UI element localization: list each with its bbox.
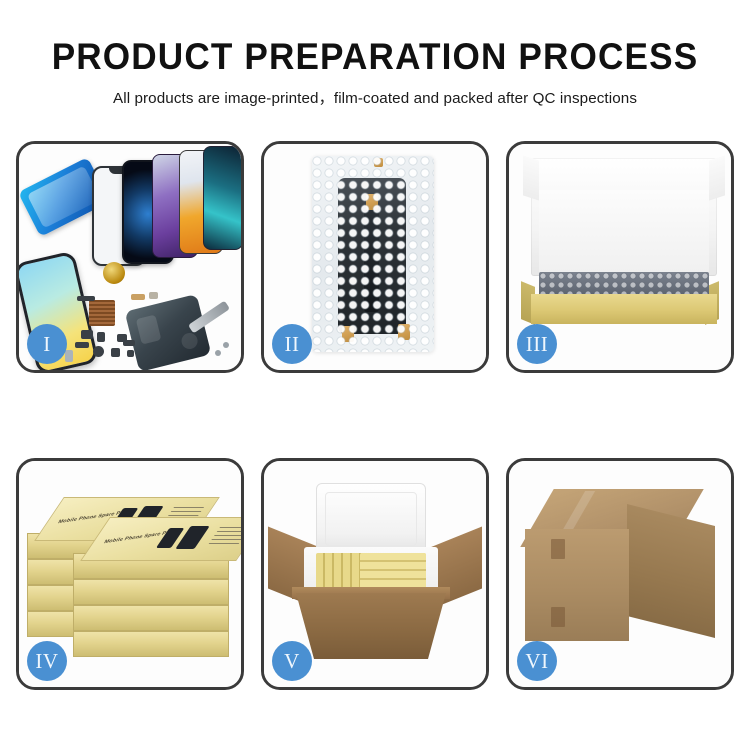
header: PRODUCT PREPARATION PROCESS All products… [0,38,750,108]
carton-tape-patch [551,539,565,559]
spare-part-piece [65,350,73,362]
spec-text-lines [207,527,244,547]
process-step-6: VI [506,458,734,690]
step-badge-1: I [27,324,67,364]
outer-carton-body [296,593,446,659]
carton-front-face [525,529,629,641]
spare-part-piece [223,342,229,348]
speaker-module-part [103,262,125,284]
process-step-2: II [261,141,489,373]
phone-back-housing [125,294,212,372]
page-title: PRODUCT PREPARATION PROCESS [19,38,732,77]
process-step-5: V [261,458,489,690]
connector-chip-part [89,300,115,326]
phone-teal-display [203,146,243,250]
step-badge-5: V [272,641,312,681]
spare-part-piece [77,296,95,301]
foam-cooler-lid [316,483,426,555]
bubble-wrap-bag [312,156,434,352]
retail-box-stack: Mobile Phone Spare Parts Mobile Phone Sp… [27,485,233,663]
process-step-3: III [506,141,734,373]
spare-part-piece [75,342,89,348]
step-badge-3: III [517,324,557,364]
spare-part-piece [81,330,93,339]
kraft-tray-front [531,294,717,324]
step-badge-4: IV [27,641,67,681]
step-badge-2: II [272,324,312,364]
carton-tape-patch [551,607,565,627]
spare-part-piece [123,340,135,346]
step-badge-6: VI [517,641,557,681]
retail-box [73,605,229,631]
spare-part-piece [93,346,104,357]
bubble-texture [312,156,434,352]
spare-part-piece [111,348,120,357]
retail-box [73,579,229,605]
spare-part-piece [149,292,158,299]
carton-side-face [627,504,715,638]
spare-part-piece [131,294,145,300]
spare-part-piece [97,332,105,342]
process-step-grid: I II [16,141,734,690]
process-step-1: I [16,141,244,373]
spare-part-piece [127,350,134,357]
spare-part-piece [215,350,221,356]
retail-box [73,631,229,657]
product-preparation-infographic: PRODUCT PREPARATION PROCESS All products… [0,0,750,750]
foam-sheet [539,190,709,274]
retail-box-lid: Mobile Phone Spare Parts [80,517,244,561]
page-subtitle: All products are image-printed，film-coat… [0,86,750,108]
process-step-4: Mobile Phone Spare Parts Mobile Phone Sp… [16,458,244,690]
